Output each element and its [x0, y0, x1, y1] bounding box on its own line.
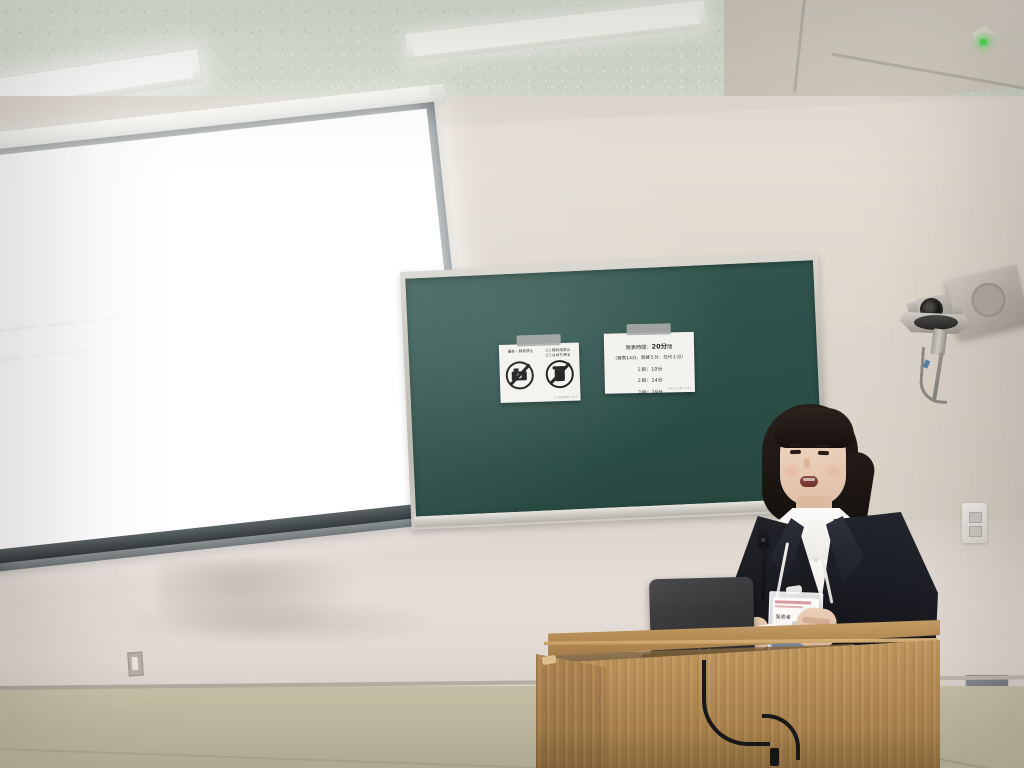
speaker-grill — [968, 279, 1009, 320]
jack-port — [969, 512, 982, 523]
sign-credit: ※ご協力お願いします — [554, 395, 578, 400]
blouse-button — [814, 558, 818, 562]
screen-surface: ——— —— ———— ——— —— ———— —— —— — [0, 109, 469, 550]
prohibition-sign: 撮影・録音禁止 ゴミ箱利用禁止 ゴミは持ち帰る ※ご協力お願いします — [499, 343, 581, 403]
cable-plug — [770, 748, 779, 766]
lapel-microphone-icon — [757, 522, 769, 549]
mouth — [800, 476, 818, 487]
time-sign-bell-1: １鈴：10分 — [604, 364, 694, 373]
no-camera-icon — [505, 361, 534, 390]
time-sign: 発表時間：20分間 （発表14分、質疑５分、交代１分） １鈴：10分 ２鈴：14… — [604, 332, 695, 394]
lecture-hall-photo: ——— —— ———— ——— —— ———— —— —— 撮影・録音禁止 ゴミ… — [0, 0, 1024, 768]
time-sign-title: 発表時間：20分間 — [604, 341, 694, 352]
sign-tape — [517, 334, 561, 346]
time-sign-bell-2: ２鈴：14分 — [605, 376, 695, 385]
wall-stain — [120, 600, 440, 646]
eye — [790, 450, 801, 455]
wall-outlet-icon — [127, 652, 144, 677]
eye — [818, 451, 829, 455]
sensor-led-indicator — [980, 39, 987, 45]
nose — [804, 458, 810, 468]
prohibition-icons — [499, 360, 580, 390]
bangs — [774, 408, 854, 448]
no-trash-icon — [545, 360, 574, 389]
cheek — [826, 466, 840, 476]
sign-credit: ※鈴にご注意ください — [668, 386, 692, 390]
no-trash-label: ゴミ箱利用禁止 ゴミは持ち帰る — [545, 348, 571, 358]
cheek — [784, 466, 798, 476]
no-photo-label: 撮影・録音禁止 — [508, 349, 534, 359]
slide-text: ——— —— ———— ——— —— ———— —— —— — [0, 279, 325, 374]
time-sign-subtitle: （発表14分、質疑５分、交代１分） — [604, 354, 694, 362]
wall-camera-icon — [898, 282, 974, 352]
wall-jack-plate-icon — [962, 503, 987, 543]
projector-glare — [8, 229, 453, 523]
jack-port — [969, 526, 982, 537]
sign-tape — [627, 323, 671, 335]
